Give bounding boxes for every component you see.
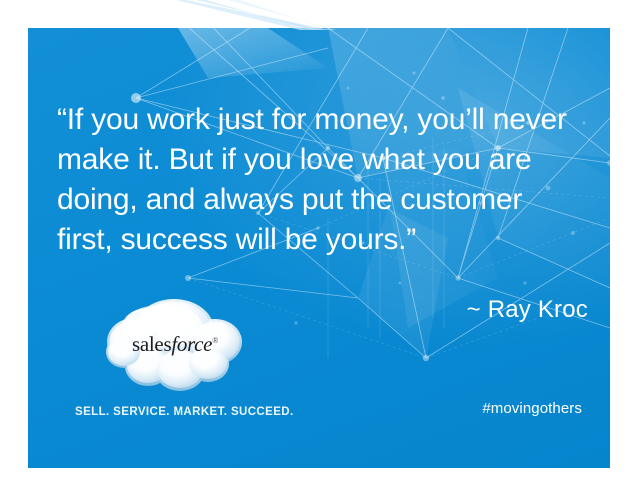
salesforce-wordmark: salesforce® (123, 332, 227, 357)
quote-block: “If you work just for money, you’ll neve… (57, 100, 587, 260)
quote-line-3: doing, and always put the customer (57, 180, 587, 220)
quote-line-4: first, success will be yours.” (57, 220, 587, 260)
campaign-hashtag: #movingothers (482, 400, 582, 417)
slide-blue-panel: “If you work just for money, you’ll neve… (28, 28, 610, 468)
diagonal-light-streak (0, 0, 638, 30)
wordmark-sales: sales (132, 332, 171, 356)
trademark-mark: ® (212, 336, 218, 345)
wordmark-force: force (171, 332, 212, 356)
quote-line-2: make it. But if you love what you are (57, 140, 587, 180)
salesforce-logo: salesforce® (96, 290, 251, 400)
brand-tagline: SELL. SERVICE. MARKET. SUCCEED. (75, 406, 294, 418)
slide-root: “If you work just for money, you’ll neve… (0, 0, 638, 493)
quote-line-1: “If you work just for money, you’ll neve… (57, 100, 587, 140)
quote-attribution: ~ Ray Kroc (467, 296, 588, 324)
